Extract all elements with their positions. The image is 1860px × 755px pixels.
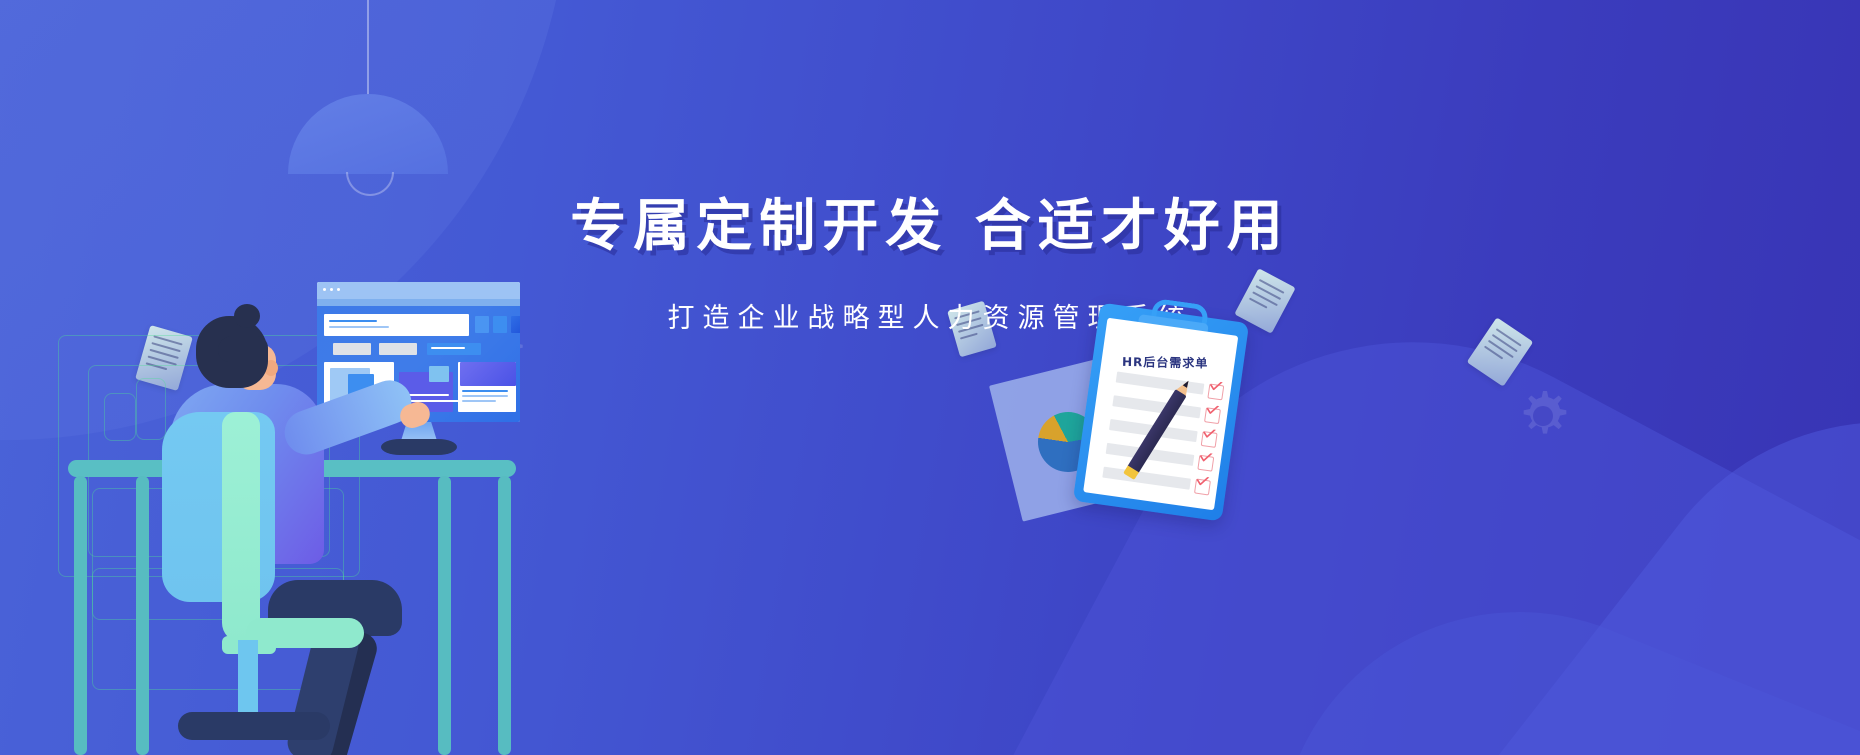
lamp-shade <box>288 94 448 174</box>
desk-leg-right-inner <box>498 476 511 755</box>
clipboard-title: HR后台需求单 <box>1122 353 1234 372</box>
clipboard: HR后台需求单 <box>1073 303 1249 522</box>
chip-2 <box>379 343 417 355</box>
clipboard-paper: HR后台需求单 <box>1083 318 1238 511</box>
person-fringe <box>218 336 268 362</box>
blueprint-outline-4 <box>136 378 166 440</box>
pendant-lamp-icon <box>268 0 468 190</box>
window-dot-1 <box>323 288 326 291</box>
tile-swatch-1 <box>475 316 489 333</box>
desk-leg-right <box>438 476 451 755</box>
check-icon <box>1195 476 1209 487</box>
desk-leg-left <box>74 476 87 755</box>
gear-icon-right <box>1512 385 1574 447</box>
tile-swatch-3 <box>511 316 520 333</box>
chip-1 <box>333 343 371 355</box>
chair-back-edge <box>222 412 260 642</box>
check-icon <box>1202 428 1216 439</box>
person-hair-bun <box>234 304 260 328</box>
page-title: 专属定制开发 合适才好用 <box>0 181 1860 262</box>
check-icon <box>1205 404 1219 415</box>
check-icon <box>1209 380 1223 391</box>
chip-3 <box>427 343 481 355</box>
content-card-header <box>324 314 469 336</box>
checklist-row <box>1102 467 1191 490</box>
hero-banner: 专属定制开发 合适才好用 打造企业战略型人力资源管理系统 <box>0 0 1860 755</box>
lamp-cord <box>367 0 369 96</box>
tile-swatch-2 <box>493 316 507 333</box>
desk-leg-left-inner <box>136 476 149 755</box>
monitor-base <box>381 439 457 455</box>
browser-titlebar <box>317 282 520 299</box>
check-icon <box>1199 452 1213 463</box>
blueprint-outline-3 <box>104 393 136 441</box>
window-dot-3 <box>337 288 340 291</box>
chair-base <box>178 712 330 740</box>
illustration-hr-clipboard: HR后台需求单 <box>1000 290 1330 620</box>
panel-right <box>458 362 516 412</box>
checklist-row <box>1112 395 1201 418</box>
chair-stem <box>238 640 258 718</box>
illustration-person-at-desk <box>0 300 660 755</box>
window-dot-2 <box>330 288 333 291</box>
browser-addressbar <box>317 299 520 306</box>
